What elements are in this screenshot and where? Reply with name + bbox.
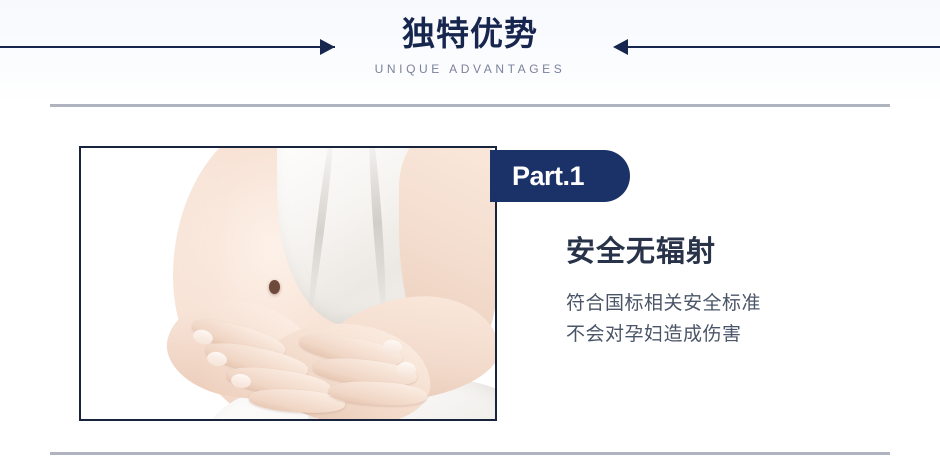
part-badge: Part.1 (490, 150, 630, 202)
feature-body-line-1: 符合国标相关安全标准 (566, 288, 896, 319)
feature-copy: 安全无辐射 符合国标相关安全标准 不会对孕妇造成伤害 (566, 232, 896, 350)
section-title: 独特优势 (0, 12, 940, 56)
feature-body: 符合国标相关安全标准 不会对孕妇造成伤害 (566, 288, 896, 350)
header-band: 独特优势 UNIQUE ADVANTAGES (0, 0, 940, 105)
part-badge-label: Part.1 (490, 150, 584, 202)
navel-detail (269, 280, 280, 294)
header-title-block: 独特优势 UNIQUE ADVANTAGES (0, 12, 940, 77)
section-subtitle: UNIQUE ADVANTAGES (0, 61, 940, 77)
advantages-section: 独特优势 UNIQUE ADVANTAGES (0, 0, 940, 468)
feature-headline: 安全无辐射 (566, 232, 896, 272)
photo-canvas (81, 148, 495, 419)
feature-photo (79, 146, 497, 421)
feature-body-line-2: 不会对孕妇造成伤害 (566, 319, 896, 350)
separator-top (50, 104, 890, 107)
separator-bottom (50, 452, 890, 455)
